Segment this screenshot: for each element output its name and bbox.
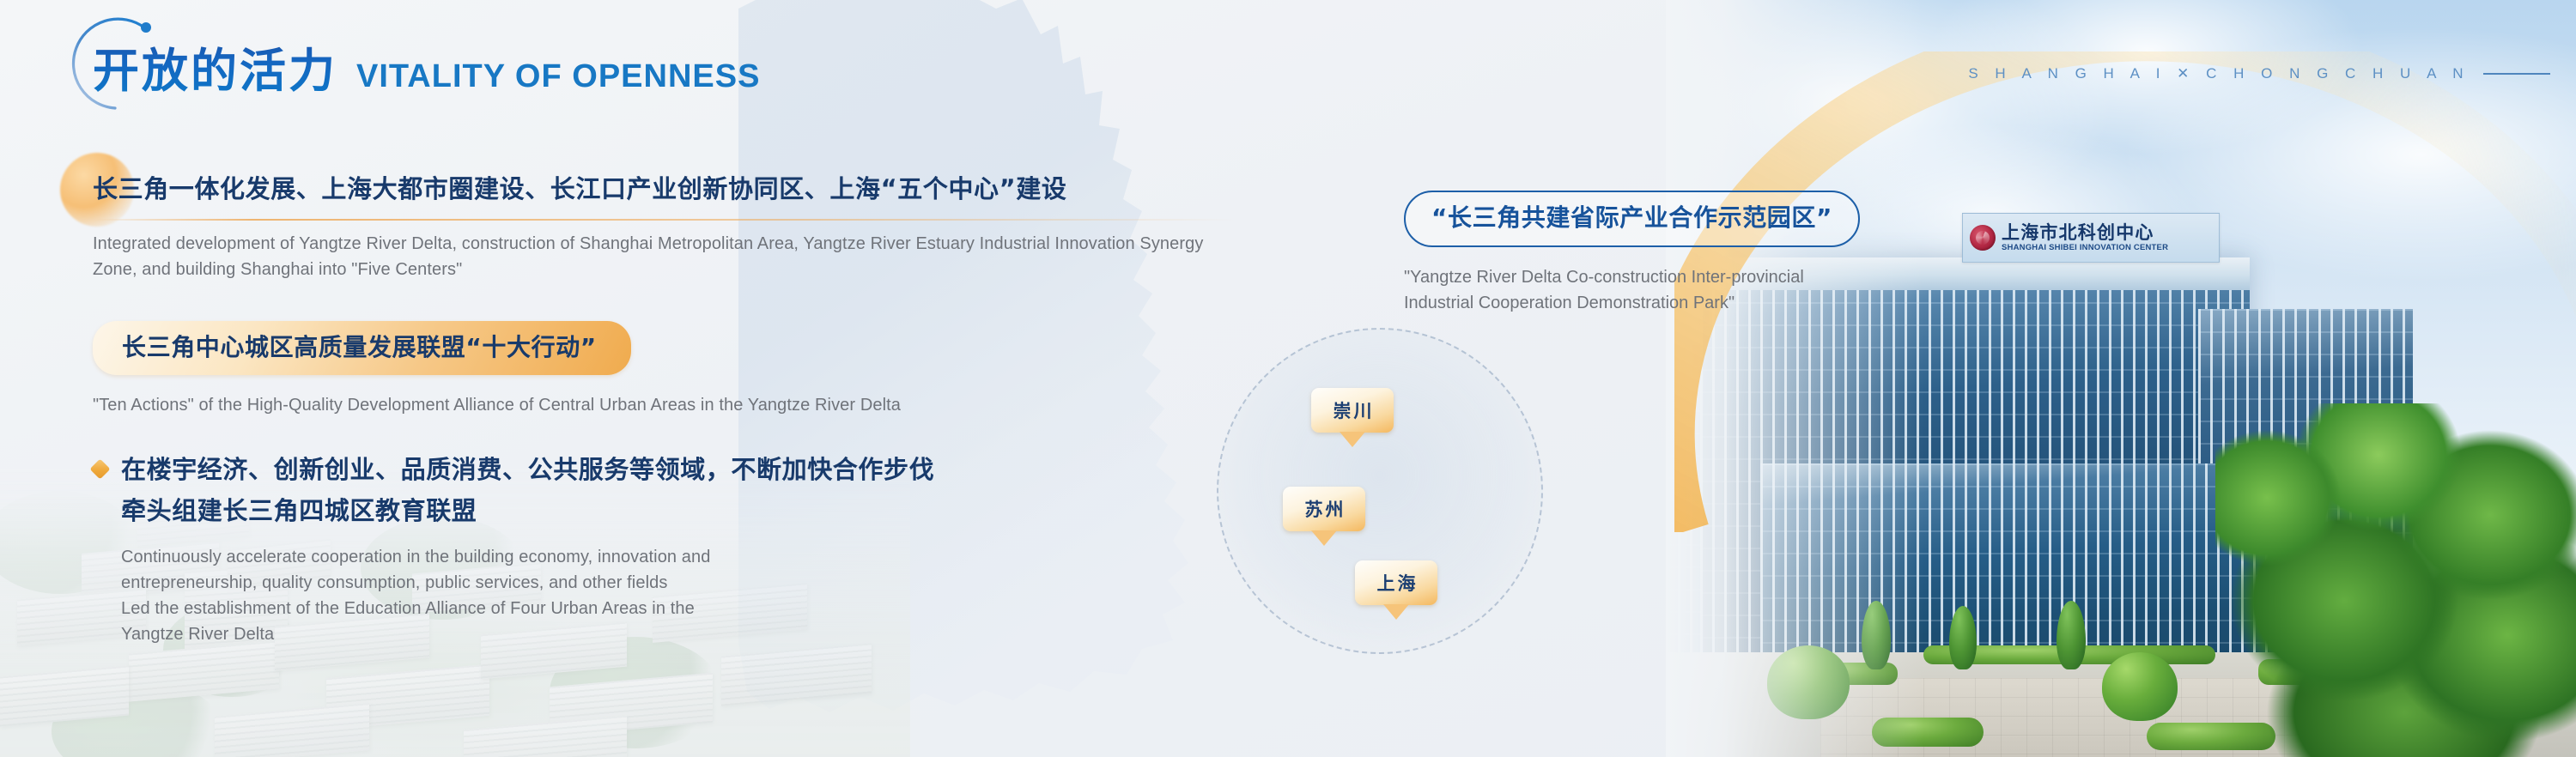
photo-left-fade	[1666, 0, 1923, 757]
map-marker-label: 上海	[1375, 570, 1419, 596]
block3-body-en-line3: Led the establishment of the Education A…	[121, 596, 1346, 621]
block3-heading-cn-line1: 在楼宇经济、创新创业、品质消费、公共服务等领域，不断加快合作步伐	[121, 452, 934, 488]
title-english: VITALITY OF OPENNESS	[356, 58, 760, 95]
block3-body-en-line4: Yangtze River Delta	[121, 621, 1346, 647]
deciduous-tree	[2102, 652, 2178, 721]
right-heading-pill: “长三角共建省际产业合作示范园区”	[1404, 191, 1860, 247]
left-content-column: 长三角一体化发展、上海大都市圈建设、长江口产业创新协同区、上海“五个中心”建设 …	[93, 172, 1346, 647]
right-content-column: “长三角共建省际产业合作示范园区” "Yangtze River Delta C…	[1404, 191, 2005, 316]
block1-heading-cn: 长三角一体化发展、上海大都市圈建设、长江口产业创新协同区、上海“五个中心”建设	[93, 172, 1346, 207]
block3-body-en-line1: Continuously accelerate cooperation in t…	[121, 544, 1346, 570]
title-chinese: 开放的活力	[93, 33, 337, 100]
signage-chinese-text: 上海市北科创中心	[2002, 224, 2168, 242]
banner-canvas: 上海市北科创中心 SHANGHAI SHIBEI INNOVATION CENT…	[0, 0, 2576, 757]
corner-label-text: S H A N G H A I ✕ C H O N G C H U A N	[1968, 65, 2470, 82]
diamond-bullet-icon	[89, 458, 110, 479]
corner-label-rule	[2483, 73, 2550, 75]
page-title: 开放的活力 VITALITY OF OPENNESS	[93, 33, 760, 100]
corner-brand-label: S H A N G H A I ✕ C H O N G C H U A N	[1968, 65, 2550, 82]
signage-english-text: SHANGHAI SHIBEI INNOVATION CENTER	[2002, 244, 2168, 252]
map-marker-shanghai[interactable]: 上海	[1355, 560, 1437, 605]
right-heading-cn: “长三角共建省际产业合作示范园区”	[1431, 201, 1832, 234]
right-body-en-line1: "Yangtze River Delta Co-construction Int…	[1404, 264, 2005, 290]
block2-heading-pill: 长三角中心城区高质量发展联盟“十大行动”	[93, 321, 631, 375]
block1-body-en: Integrated development of Yangtze River …	[93, 231, 1218, 282]
block3-heading-cn-line2: 牵头组建长三角四城区教育联盟	[121, 494, 934, 529]
block2-body-en: "Ten Actions" of the High-Quality Develo…	[93, 392, 1346, 418]
content-block-3: 在楼宇经济、创新创业、品质消费、公共服务等领域，不断加快合作步伐 牵头组建长三角…	[93, 452, 1346, 647]
right-body-en-line2: Industrial Cooperation Demonstration Par…	[1404, 290, 2005, 316]
content-block-2: 长三角中心城区高质量发展联盟“十大行动” "Ten Actions" of th…	[93, 321, 1346, 418]
block1-divider	[93, 219, 1235, 221]
tree-canopy-right	[2215, 403, 2576, 757]
content-block-1: 长三角一体化发展、上海大都市圈建设、长江口产业创新协同区、上海“五个中心”建设 …	[93, 172, 1346, 282]
campus-photograph: 上海市北科创中心 SHANGHAI SHIBEI INNOVATION CENT…	[1666, 0, 2576, 757]
block2-heading-cn: 长三角中心城区高质量发展联盟“十大行动”	[122, 330, 597, 364]
block3-body-en-line2: entrepreneurship, quality consumption, p…	[121, 570, 1346, 596]
